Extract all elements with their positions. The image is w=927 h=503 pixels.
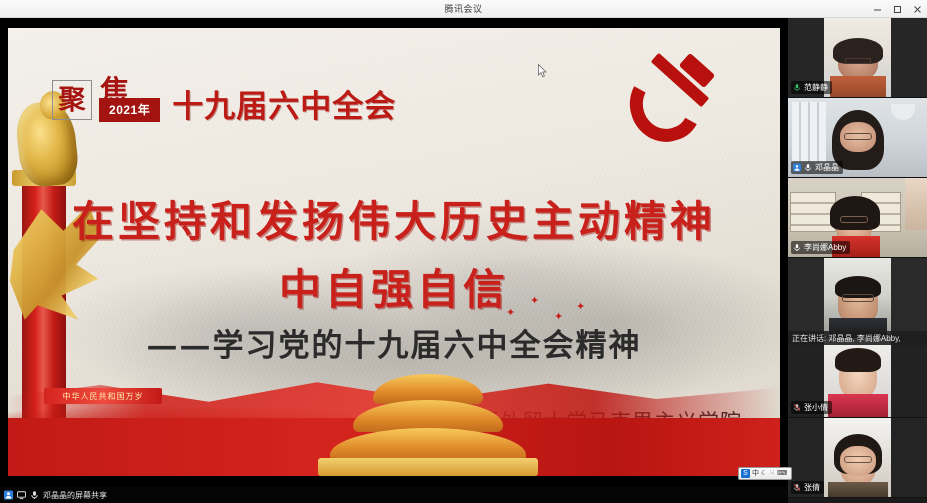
participant-name: 邓晶晶: [815, 162, 839, 173]
participant-tile[interactable]: [788, 258, 927, 338]
screen-share-status-bar: 邓晶晶的屏幕共享: [0, 487, 788, 503]
year-badge: 2021年: [99, 98, 160, 122]
pin-icon: [793, 163, 801, 172]
birds-decoration: ✦ ✦ ✦ ✦ ✦: [480, 296, 600, 336]
ime-logo-icon[interactable]: S: [741, 469, 750, 478]
window-controls: [872, 0, 923, 18]
person-icon: [4, 490, 13, 500]
window-title: 腾讯会议: [444, 2, 482, 15]
participant-nametag: 邓晶晶: [791, 161, 843, 174]
minimize-icon[interactable]: [872, 4, 883, 15]
participant-tile[interactable]: 张小倩: [788, 338, 927, 418]
party-emblem-icon: [624, 54, 732, 154]
ime-more-icon[interactable]: ⁙: [769, 470, 775, 477]
ime-mode-chinese[interactable]: 中: [752, 470, 759, 477]
ime-keyboard-icon[interactable]: ⌨: [777, 470, 787, 477]
microphone-icon: [804, 163, 812, 172]
temple-of-heaven-icon: [308, 366, 548, 476]
participant-tile[interactable]: 范静静: [788, 18, 927, 98]
microphone-muted-icon: [793, 403, 801, 412]
maximize-icon[interactable]: [892, 4, 903, 15]
speaking-status-bar: 正在讲话: 邓晶晶, 李尚娜Abby,: [788, 331, 927, 345]
screen-share-label: 邓晶晶的屏幕共享: [43, 490, 107, 501]
slide-title-line1: 在坚持和发扬伟大历史主动精神: [8, 188, 780, 249]
participant-nametag: 范静静: [791, 81, 832, 94]
participant-tile[interactable]: 邓晶晶: [788, 98, 927, 178]
participant-name: 张倩: [804, 482, 820, 493]
shared-screen-stage[interactable]: 聚 焦 2021年 十九届六中全会 在坚持和发扬伟大历史主动精神 中自强自信 —…: [0, 18, 788, 503]
slide-title-line2: 中自强自信: [8, 256, 780, 317]
tiananmen-plaque: 中华人民共和国万岁: [44, 388, 162, 404]
microphone-icon: [793, 243, 801, 252]
participant-tile[interactable]: 张倩: [788, 418, 927, 498]
microphone-muted-icon: [793, 483, 801, 492]
ime-toolbar[interactable]: S 中 ☾ ⁙ ⌨: [738, 467, 792, 480]
participant-rail[interactable]: 范静静 邓晶晶: [788, 18, 927, 503]
slide-header-badge: 聚 焦 2021年 十九届六中全会: [52, 80, 396, 120]
tencent-meeting-window: 腾讯会议: [0, 0, 927, 503]
close-icon[interactable]: [912, 4, 923, 15]
window-titlebar: 腾讯会议: [0, 0, 927, 18]
conference-title: 十九届六中全会: [172, 92, 396, 123]
participant-name: 范静静: [804, 82, 828, 93]
participant-nametag: 李尚娜Abby: [791, 241, 850, 254]
ime-moon-icon[interactable]: ☾: [761, 470, 767, 477]
participant-nametag: 张倩: [791, 481, 824, 494]
participant-tile[interactable]: 李尚娜Abby: [788, 178, 927, 258]
badge-ju: 聚: [52, 80, 92, 120]
microphone-muted-icon: [793, 83, 801, 92]
screen-share-icon: [17, 490, 26, 500]
participant-nametag: 张小倩: [791, 401, 832, 414]
participant-name: 李尚娜Abby: [804, 242, 846, 253]
microphone-icon: [30, 490, 39, 500]
presentation-slide: 聚 焦 2021年 十九届六中全会 在坚持和发扬伟大历史主动精神 中自强自信 —…: [8, 28, 780, 476]
participant-name: 张小倩: [804, 402, 828, 413]
